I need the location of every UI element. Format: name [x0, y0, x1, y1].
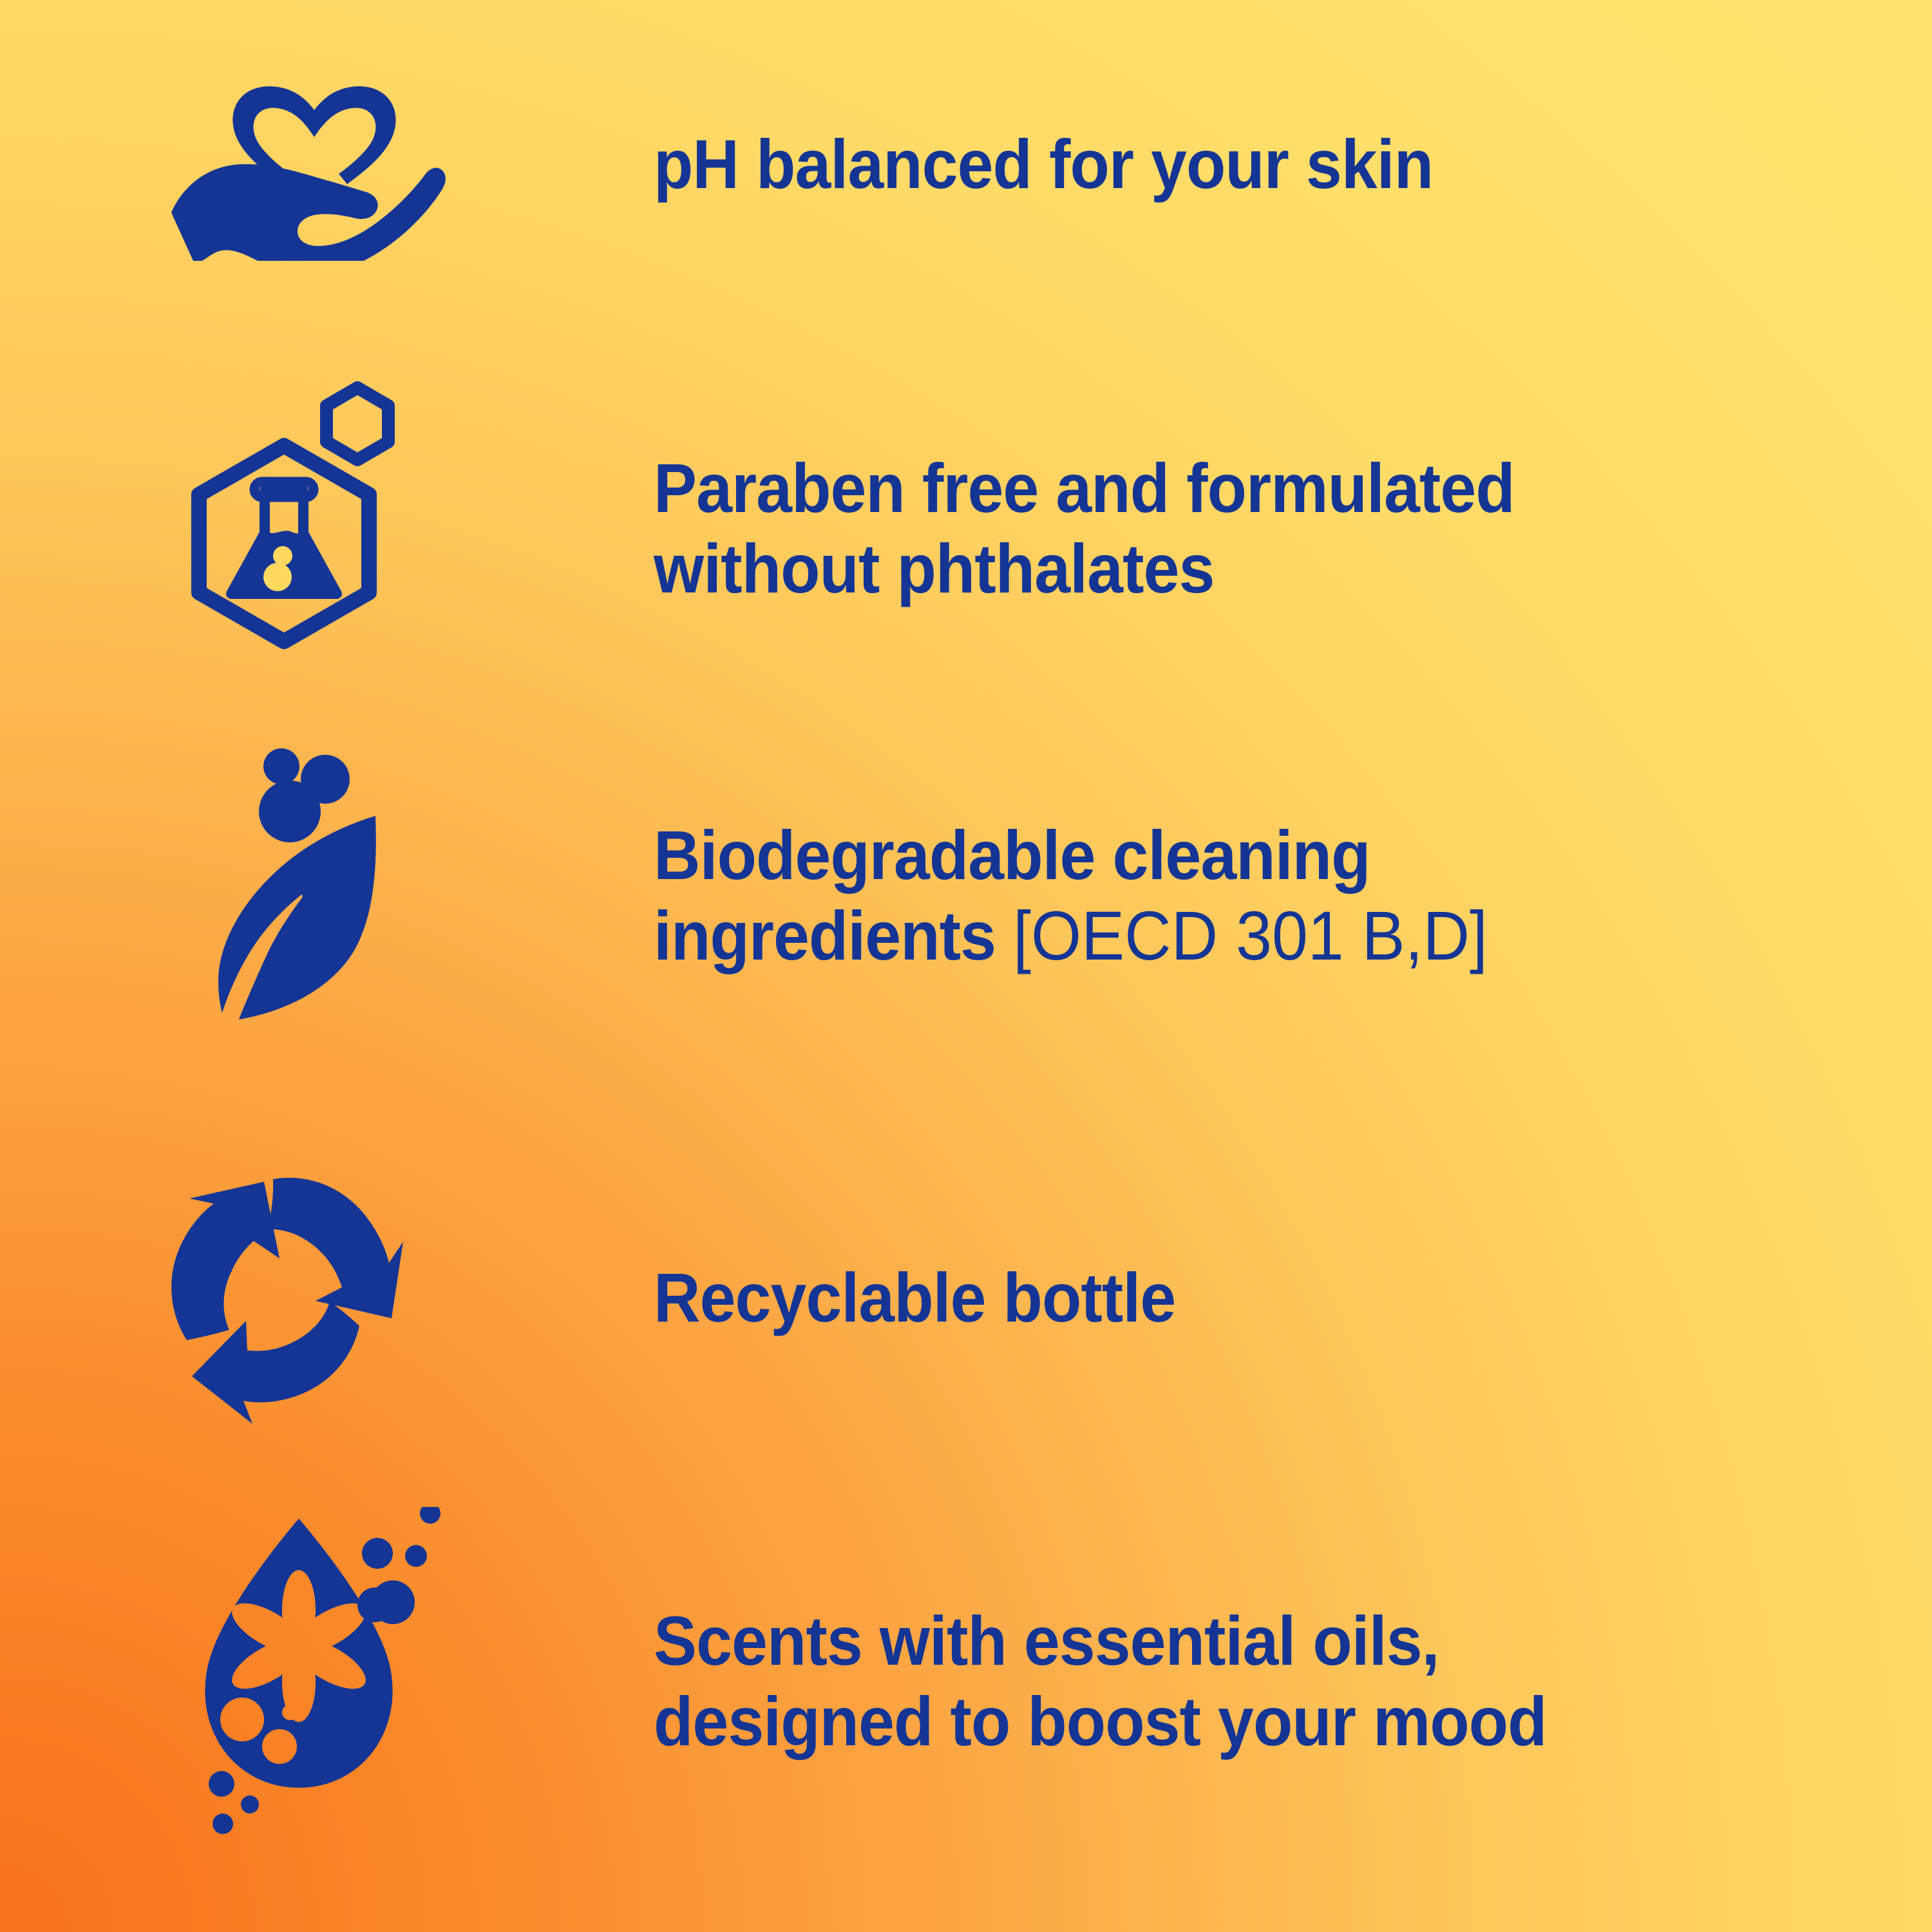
droplet-flower-icon [185, 1507, 456, 1855]
feature-row-paraben-free: Paraben free and formulated without phth… [0, 361, 1932, 696]
feature-row-ph-balanced: pH balanced for your skin [0, 58, 1932, 270]
feature-label-paraben-free: Paraben free and formulated without phth… [654, 448, 1795, 609]
hand-heart-icon [165, 68, 461, 261]
feature-text-cell-biodegradable: Biodegradable cleaning ingredients [OECD… [654, 815, 1932, 976]
feature-row-biodegradable: Biodegradable cleaning ingredients [OECD… [0, 728, 1932, 1063]
feature-note-oecd: [OECD 301 B,D] [1013, 896, 1488, 974]
feature-text-cell-paraben-free: Paraben free and formulated without phth… [654, 448, 1932, 609]
feature-text-cell-ph-balanced: pH balanced for your skin [654, 124, 1932, 204]
feature-text-cell-recyclable-bottle: Recyclable bottle [654, 1257, 1932, 1338]
droplet-flower-icon-cell [0, 1507, 647, 1855]
flask-hexagon-icon-cell [0, 374, 618, 683]
feature-label-ph-balanced: pH balanced for your skin [654, 124, 1795, 204]
hand-heart-icon-cell [0, 68, 639, 261]
leaf-bubbles-icon [203, 737, 415, 1053]
recycle-arrows-icon-cell [0, 1169, 602, 1426]
feature-row-recyclable-bottle: Recyclable bottle [0, 1153, 1932, 1443]
feature-row-essential-oils: Scents with essential oils, designed to … [0, 1494, 1932, 1868]
feature-label-essential-oils: Scents with essential oils, designed to … [654, 1600, 1795, 1762]
feature-label-recyclable-bottle: Recyclable bottle [654, 1257, 1795, 1338]
feature-label-biodegradable: Biodegradable cleaning ingredients [OECD… [654, 815, 1795, 976]
product-benefits-poster: pH balanced for your skin [0, 0, 1932, 1932]
flask-hexagon-icon [169, 374, 414, 683]
recycle-arrows-icon [147, 1169, 404, 1426]
leaf-bubbles-icon-cell [0, 737, 636, 1053]
feature-text-cell-essential-oils: Scents with essential oils, designed to … [654, 1600, 1932, 1762]
